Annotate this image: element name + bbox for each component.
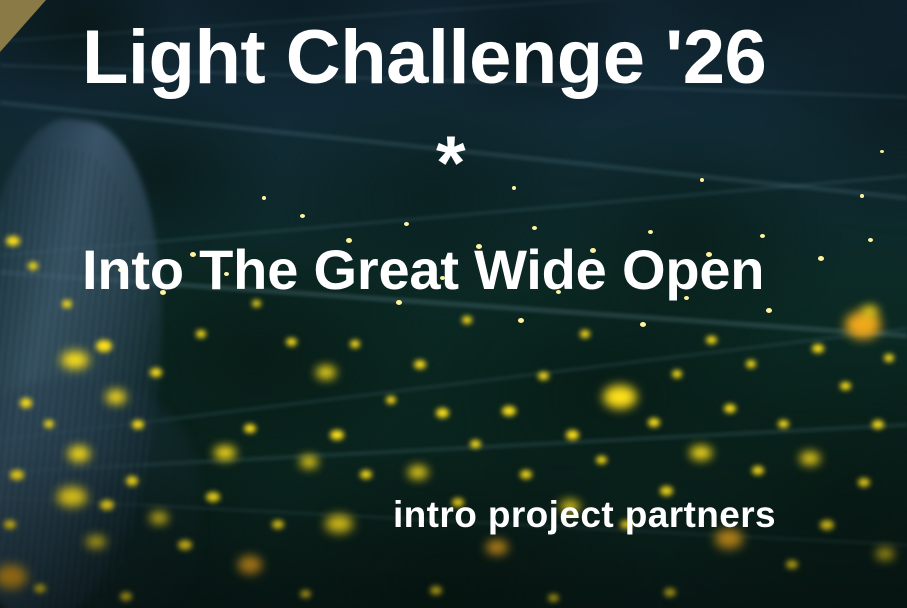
- slide-footer-text: intro project partners: [393, 496, 776, 533]
- asterisk-separator-icon: *: [436, 126, 466, 202]
- slide-title: Light Challenge '26: [82, 20, 766, 96]
- slide-subtitle: Into The Great Wide Open: [82, 242, 764, 298]
- presentation-slide: Light Challenge '26 * Into The Great Wid…: [0, 0, 907, 608]
